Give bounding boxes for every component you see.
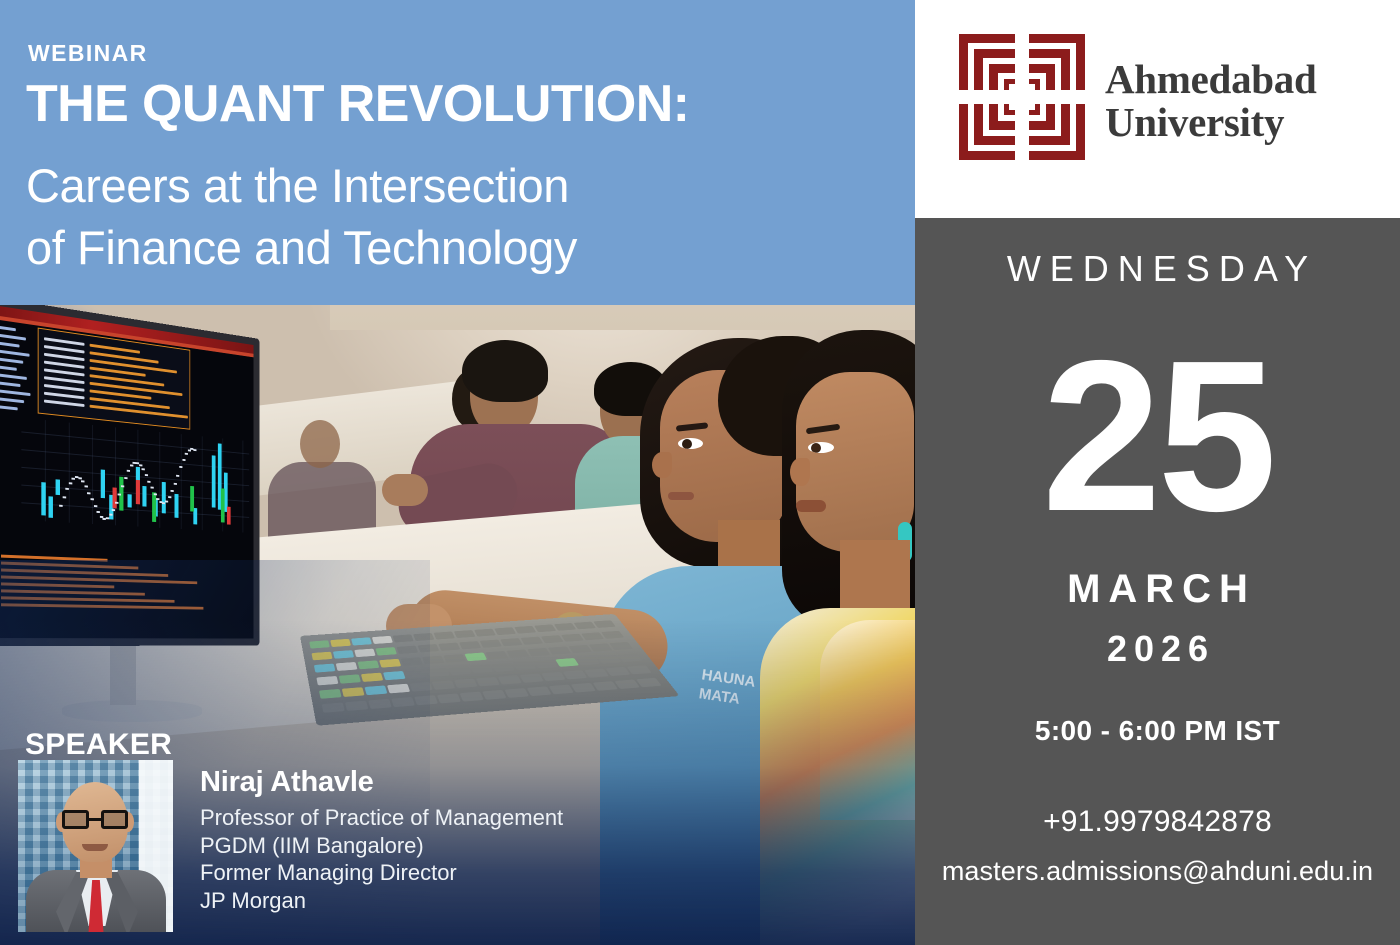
eyebrow-label: WEBINAR [28, 40, 148, 67]
student-maroon-hair [462, 340, 548, 402]
contact-email[interactable]: masters.admissions@ahduni.edu.in [915, 856, 1400, 887]
speaker-label: SPEAKER [25, 728, 172, 762]
headshot-mouth [82, 844, 108, 851]
speaker-credentials: Professor of Practice of Management PGDM… [200, 804, 563, 914]
brand-name: Ahmedabad University [1105, 58, 1316, 145]
left-column: HAUNA MATA [0, 0, 915, 945]
page-subtitle: Careers at the Intersection of Finance a… [26, 155, 577, 279]
person-background-head [300, 420, 340, 468]
lips [668, 492, 694, 500]
speaker-name: Niraj Athavle [200, 766, 374, 799]
brand-name-line1: Ahmedabad [1105, 58, 1316, 101]
credential-line: Professor of Practice of Management [200, 804, 563, 832]
contact-phone[interactable]: +91.9979842878 [915, 805, 1400, 839]
lips [796, 500, 826, 512]
title-band: WEBINAR THE QUANT REVOLUTION: Careers at… [0, 0, 915, 305]
subtitle-line-1: Careers at the Intersection [26, 155, 577, 217]
speaker-section: SPEAKER Niraj Athavle Professor of Pract… [0, 718, 915, 945]
student-front-face [796, 372, 914, 552]
subtitle-line-2: of Finance and Technology [26, 217, 577, 279]
nose [652, 452, 672, 478]
brand-name-line2: University [1105, 101, 1316, 144]
glasses-icon [62, 810, 128, 829]
student-maroon-hand [382, 474, 428, 506]
eye [808, 442, 834, 453]
speaker-headshot [18, 760, 173, 932]
event-weekday: WEDNESDAY [915, 248, 1400, 290]
event-month: MARCH [915, 567, 1400, 612]
event-day: 25 [915, 328, 1400, 543]
page-title: THE QUANT REVOLUTION: [26, 78, 689, 131]
brand-area: Ahmedabad University [915, 0, 1400, 218]
webinar-poster: HAUNA MATA [0, 0, 1400, 945]
event-details-panel: Ahmedabad University WEDNESDAY 25 MARCH … [915, 0, 1400, 945]
eye [678, 438, 703, 449]
event-time: 5:00 - 6:00 PM IST [915, 715, 1400, 747]
ahmedabad-university-logo-icon [957, 32, 1087, 162]
event-year: 2026 [915, 628, 1400, 670]
credential-line: Former Managing Director [200, 859, 563, 887]
credential-line: JP Morgan [200, 887, 563, 915]
nose [790, 458, 810, 486]
credential-line: PGDM (IIM Bangalore) [200, 832, 563, 860]
